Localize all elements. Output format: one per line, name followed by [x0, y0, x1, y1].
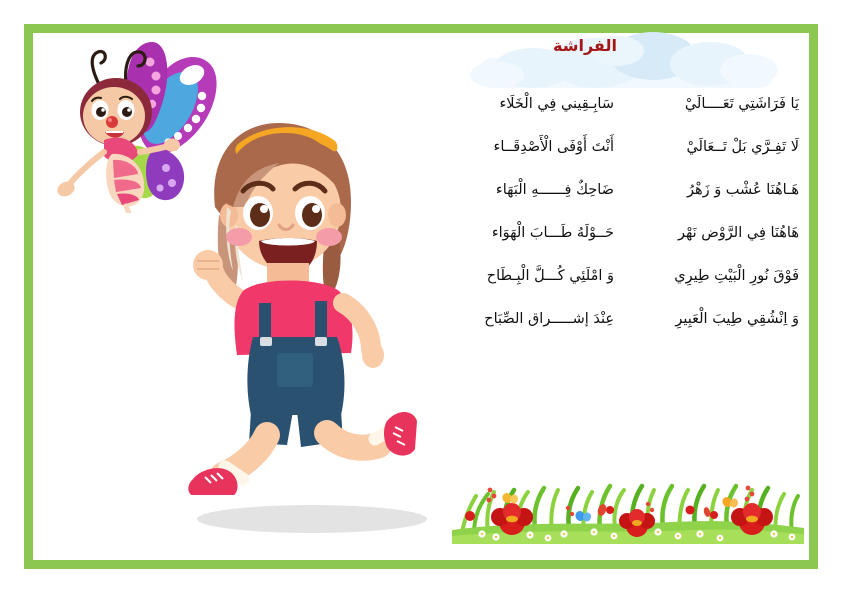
- verse-line: لَا تَفِـرَّي بَلْ تَــعَالَيْ أَنْتَ أَ…: [434, 139, 814, 182]
- running-girl-icon: [175, 115, 425, 495]
- hemistich-b: عِنْدَ إشـــــراق الصِّبَاح: [434, 311, 614, 327]
- hemistich-a: هَاهُنَا فِي الرَّوْض نَهْر: [614, 225, 799, 241]
- hemistich-b: وَ امْلَئِي كُـــلَّ الْبِـطَاح: [434, 268, 614, 284]
- hemistich-a: لَا تَفِـرَّي بَلْ تَــعَالَيْ: [614, 139, 799, 155]
- hemistich-a: يَا فَرَاشَتِي تَعَــــالَيْ: [614, 96, 799, 112]
- girl-illustration: [175, 115, 425, 495]
- hemistich-a: فَوْقَ نُورِ الْبَيْتِ طِيرِي: [614, 268, 799, 284]
- hemistich-a: هَـاهُنَا عُشْب وَ زَهْرُ: [614, 182, 799, 198]
- hemistich-b: سَابِـقِيني فِي الْخَلَاء: [434, 96, 614, 112]
- hemistich-b: أَنْتَ أَوْفَى الْأَصْدِقَــاء: [434, 139, 614, 155]
- verse-line: يَا فَرَاشَتِي تَعَــــالَيْ سَابِـقِيني…: [434, 96, 814, 139]
- hemistich-b: ضَاحِكٌ فِــــــهِ الْبَهَاء: [434, 182, 614, 198]
- grass-flower-border: [452, 472, 804, 544]
- verse-line: وَ اِنْشُقِي طِيبَ الْعَبِيرِ عِنْدَ إشـ…: [434, 311, 814, 354]
- worksheet-page: الفراشة يَا فَرَاشَتِي تَعَــــالَيْ سَا…: [0, 0, 842, 595]
- grass-border-icon: [452, 472, 804, 544]
- girl-ground-shadow: [197, 505, 427, 533]
- page-title: الفراشة: [430, 36, 740, 55]
- poem-area: الفراشة يَا فَرَاشَتِي تَعَــــالَيْ سَا…: [430, 24, 818, 569]
- verse-line: هَـاهُنَا عُشْب وَ زَهْرُ ضَاحِكٌ فِــــ…: [434, 182, 814, 225]
- poem-verses: يَا فَرَاشَتِي تَعَــــالَيْ سَابِـقِيني…: [434, 96, 814, 354]
- verse-line: هَاهُنَا فِي الرَّوْض نَهْر حَــوْلَهُ ط…: [434, 225, 814, 268]
- hemistich-a: وَ اِنْشُقِي طِيبَ الْعَبِيرِ: [614, 311, 799, 327]
- verse-line: فَوْقَ نُورِ الْبَيْتِ طِيرِي وَ امْلَئِ…: [434, 268, 814, 311]
- hemistich-b: حَــوْلَهُ طَـــابَ الْهَوَاء: [434, 225, 614, 241]
